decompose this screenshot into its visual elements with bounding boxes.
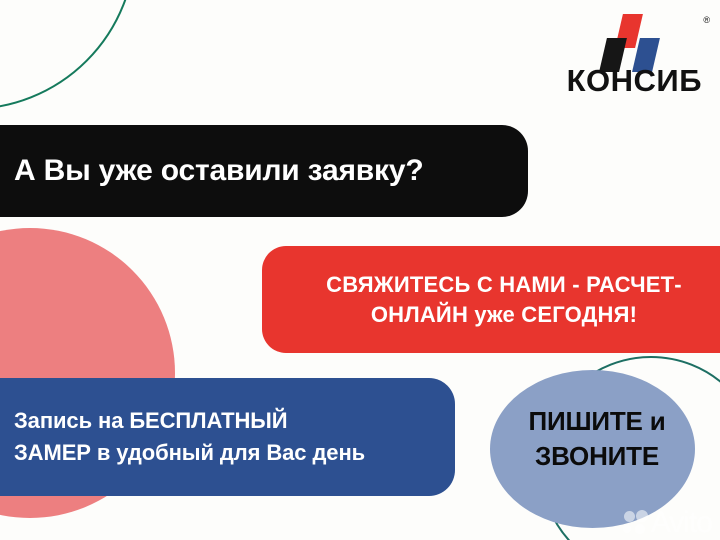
- headline-banner-black: А Вы уже оставили заявку?: [0, 125, 528, 217]
- callout-contact-text: ПИШИТЕ и ЗВОНИТЕ: [492, 404, 702, 474]
- logo-rhombus-mark-icon: [560, 14, 710, 64]
- cta-banner-red-line-2: ОНЛАЙН уже СЕГОДНЯ!: [286, 300, 720, 330]
- decorative-arc-top-left-icon: [0, 0, 136, 110]
- avito-watermark-label: Avito: [651, 508, 712, 538]
- cta-banner-red-line-1: СВЯЖИТЕСЬ С НАМИ - РАСЧЕТ-: [286, 270, 720, 300]
- promo-banner-canvas: КОНСИБ ® А Вы уже оставили заявку? СВЯЖИ…: [0, 0, 720, 540]
- avito-watermark: Avito: [623, 508, 712, 538]
- callout-contact-line-1: ПИШИТЕ и: [492, 404, 702, 439]
- brand-logo: КОНСИБ ®: [560, 14, 710, 106]
- offer-banner-blue-line-1: Запись на БЕСПЛАТНЫЙ: [14, 405, 435, 437]
- cta-banner-red: СВЯЖИТЕСЬ С НАМИ - РАСЧЕТ- ОНЛАЙН уже СЕ…: [262, 246, 720, 353]
- avito-dots-icon: [623, 510, 649, 536]
- offer-banner-blue: Запись на БЕСПЛАТНЫЙ ЗАМЕР в удобный для…: [0, 378, 455, 496]
- headline-banner-black-line-1: А Вы уже оставили заявку?: [14, 154, 488, 188]
- callout-contact-line-2: ЗВОНИТЕ: [492, 439, 702, 474]
- offer-banner-blue-line-2: ЗАМЕР в удобный для Вас день: [14, 437, 435, 469]
- logo-wordmark: КОНСИБ: [560, 64, 710, 98]
- registered-trademark-symbol: ®: [703, 15, 710, 25]
